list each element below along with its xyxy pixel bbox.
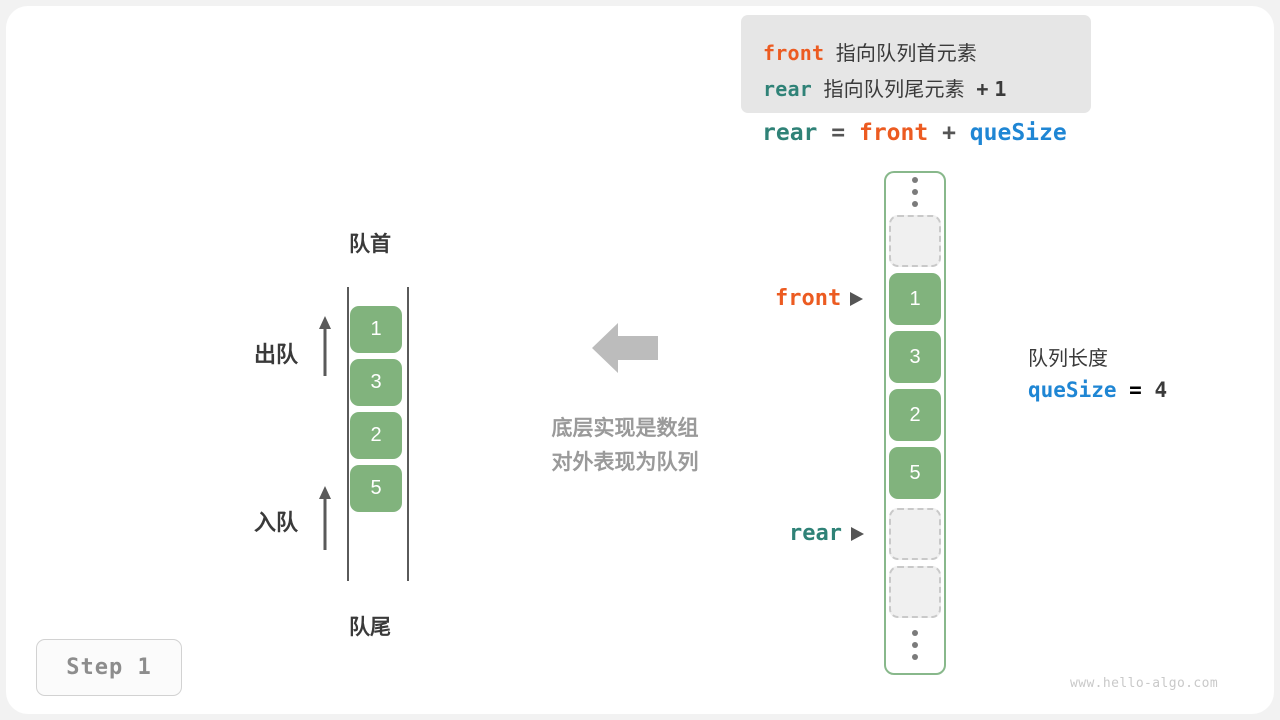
pointer-rear: rear [789,521,864,546]
arrow-right-icon [850,292,863,306]
formula-lhs: rear [762,120,817,146]
middle-caption-line1: 底层实现是数组 [530,412,720,446]
formula-quesize: queSize [970,120,1067,146]
quesize-value: 4 [1154,378,1167,402]
queue-rail-left [347,287,349,581]
legend-front-text: 指向队列首元素 [836,43,977,65]
formula-rear-equals: rear = front + queSize [762,119,1067,146]
dequeue-arrow-up-icon [317,314,333,378]
array-cell-1: 3 [889,331,941,383]
arrow-right-icon [851,527,864,541]
legend-rear-term: rear [763,77,812,101]
quesize-equals: = [1129,378,1142,402]
legend-front-term: front [763,41,824,65]
queue-item-2: 2 [350,412,402,459]
legend-box: front 指向队列首元素 rear 指向队列尾元素 + 1 [741,15,1091,113]
queue-rail-right [407,287,409,581]
arrow-left-icon [592,322,658,374]
queue-item-0: 1 [350,306,402,353]
step-badge: Step 1 [36,639,182,696]
queue-head-label: 队首 [349,228,391,258]
middle-caption-line2: 对外表现为队列 [530,446,720,480]
queue-item-1: 3 [350,359,402,406]
pointer-front: front [775,286,863,311]
array-cell-0: 1 [889,273,941,325]
quesize-note-title: 队列长度 [1028,342,1108,371]
legend-line-rear: rear 指向队列尾元素 + 1 [763,73,1007,102]
quesize-note-expr: queSize = 4 [1028,378,1167,403]
enqueue-label: 入队 [254,505,298,537]
legend-rear-text: 指向队列尾元素 [823,79,964,101]
queue-tail-label: 队尾 [349,611,391,641]
queue-item-3: 5 [350,465,402,512]
enqueue-arrow-up-icon [317,484,333,552]
formula-front: front [859,120,928,146]
formula-equals: = [831,120,845,146]
watermark: www.hello-algo.com [1070,676,1218,691]
pointer-rear-label: rear [789,521,842,546]
legend-rear-one: 1 [994,77,1006,101]
array-cell-empty-2 [889,566,941,618]
quesize-var: queSize [1028,378,1117,402]
middle-caption: 底层实现是数组 对外表现为队列 [530,412,720,480]
dequeue-label: 出队 [254,337,298,369]
array-ellipsis-top [908,177,922,207]
array-cell-empty-top [889,215,941,267]
diagram-canvas: front 指向队列首元素 rear 指向队列尾元素 + 1 rear = fr… [0,0,1280,720]
array-cell-2: 2 [889,389,941,441]
array-cell-3: 5 [889,447,941,499]
legend-line-front: front 指向队列首元素 [763,37,977,66]
legend-rear-plus: + [976,77,988,101]
array-ellipsis-bottom [908,630,922,660]
pointer-front-label: front [775,286,841,311]
array-cell-empty-1 [889,508,941,560]
formula-plus: + [942,120,956,146]
